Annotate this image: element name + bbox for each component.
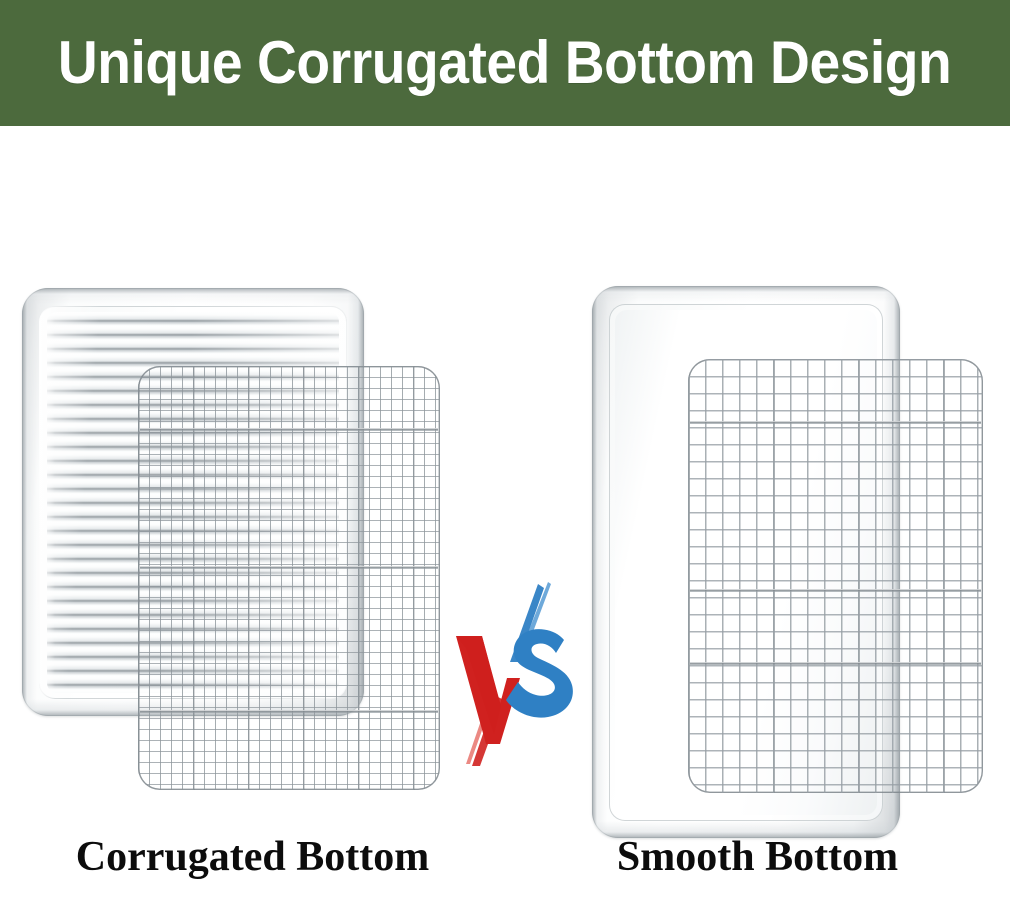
- corrugated-baking-pan: [22, 288, 364, 716]
- smooth-bottom-surface: [615, 310, 877, 815]
- smooth-baking-pan: [592, 286, 900, 838]
- left-caption: Corrugated Bottom: [0, 833, 505, 881]
- comparison-stage: [0, 126, 1010, 826]
- corrugated-ribs: [47, 312, 339, 693]
- versus-badge: [452, 578, 576, 768]
- header-banner: Unique Corrugated Bottom Design: [0, 0, 1010, 126]
- pan-basin: [39, 306, 347, 699]
- versus-icon: [452, 578, 576, 768]
- page-title: Unique Corrugated Bottom Design: [58, 33, 951, 93]
- right-caption: Smooth Bottom: [505, 833, 1010, 881]
- pan-basin: [609, 304, 883, 821]
